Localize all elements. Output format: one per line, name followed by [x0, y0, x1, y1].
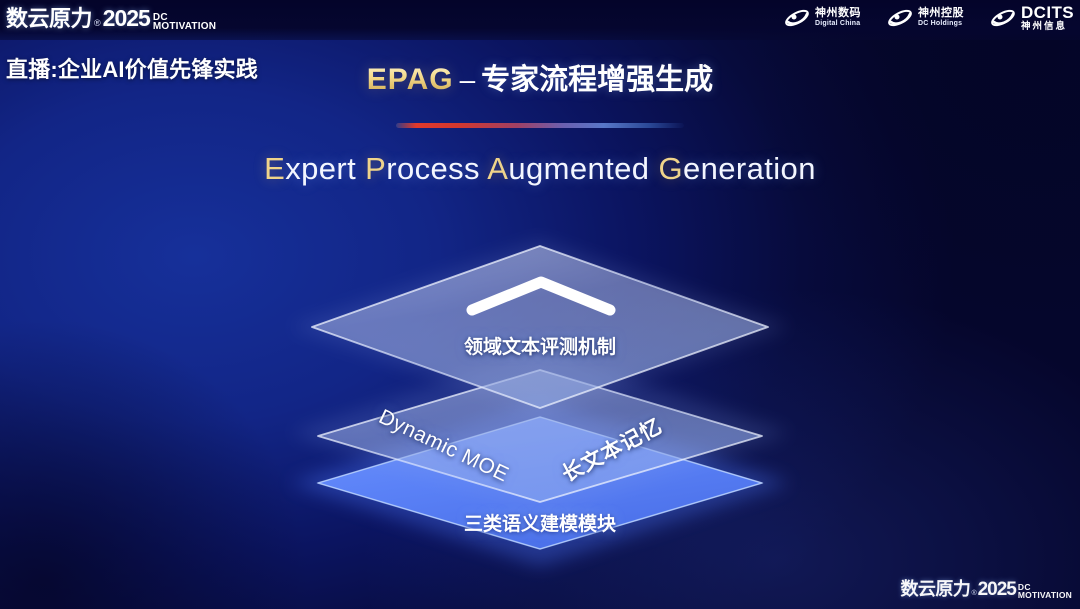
watermark-name-cn: 数云原力 — [900, 575, 970, 601]
swirl-icon — [887, 7, 913, 29]
watermark-logo: 数云原力®2025 DC MOTIVATION — [900, 575, 1072, 604]
subtitle-rest-process: rocess — [386, 151, 480, 186]
title-chinese: 专家流程增强生成 — [481, 64, 713, 96]
partner-name-cn: 神州控股 — [918, 8, 964, 19]
subtitle-cap-p: P — [365, 151, 386, 186]
subtitle-space-1 — [356, 151, 365, 186]
brand-name-cn: 数云原力 — [6, 1, 92, 33]
brand-year: 2025 — [103, 5, 150, 32]
title-dash: – — [460, 64, 476, 95]
partner-name-en: DCITS — [1021, 4, 1074, 21]
watermark-dc-motivation: DC MOTIVATION — [1018, 584, 1072, 599]
watermark-registered-mark: ® — [971, 590, 976, 597]
layer-bottom-label: 三类语义建模模块 — [0, 509, 1080, 536]
watermark-year: 2025 — [978, 579, 1016, 601]
partner-name-en: Digital China — [815, 20, 861, 27]
layer-top-label: 领域文本评测机制 — [0, 332, 1080, 359]
subtitle-cap-e: E — [264, 151, 285, 186]
swirl-icon — [784, 7, 810, 29]
partner-logo-group: 神州数码 Digital China 神州控股 DC Holdings — [784, 4, 1074, 32]
watermark-motivation-text: MOTIVATION — [1018, 592, 1072, 599]
partner-logo-dcits: DCITS 神州信息 — [990, 4, 1074, 32]
subtitle-cap-a: A — [487, 151, 508, 186]
chevron-up-icon — [462, 272, 620, 320]
live-title: 直播:企业AI价值先锋实践 — [6, 52, 258, 84]
partner-logo-dc-holdings: 神州控股 DC Holdings — [887, 7, 964, 29]
partner-name-en: DC Holdings — [918, 20, 964, 27]
subtitle-rest-generation: eneration — [683, 151, 816, 186]
gradient-divider — [396, 123, 684, 128]
partner-text: 神州控股 DC Holdings — [918, 8, 964, 27]
partner-name-cn: 神州数码 — [815, 8, 861, 19]
brand-motivation-text: MOTIVATION — [153, 23, 216, 32]
subtitle-cap-g: G — [658, 151, 683, 186]
page-subtitle: Expert Process Augmented Generation — [0, 151, 1080, 187]
partner-text: DCITS 神州信息 — [1021, 4, 1074, 32]
partner-logo-digital-china: 神州数码 Digital China — [784, 7, 861, 29]
brand-registered-mark: ® — [94, 18, 101, 28]
title-acronym: EPAG — [367, 63, 454, 96]
slide-canvas: 数云原力®2025 DC MOTIVATION 直播:企业AI价值先锋实践 神州… — [0, 0, 1080, 609]
partner-name-cn: 神州信息 — [1021, 22, 1074, 32]
brand-dc-motivation: DC MOTIVATION — [153, 14, 216, 32]
swirl-icon — [990, 7, 1016, 29]
layer-top-shape — [312, 246, 768, 408]
subtitle-rest-expert: xpert — [285, 151, 356, 186]
subtitle-rest-augmented: ugmented — [508, 151, 649, 186]
brand-logo: 数云原力®2025 DC MOTIVATION — [6, 1, 216, 38]
layer-top[interactable] — [312, 246, 768, 408]
partner-text: 神州数码 Digital China — [815, 8, 861, 27]
